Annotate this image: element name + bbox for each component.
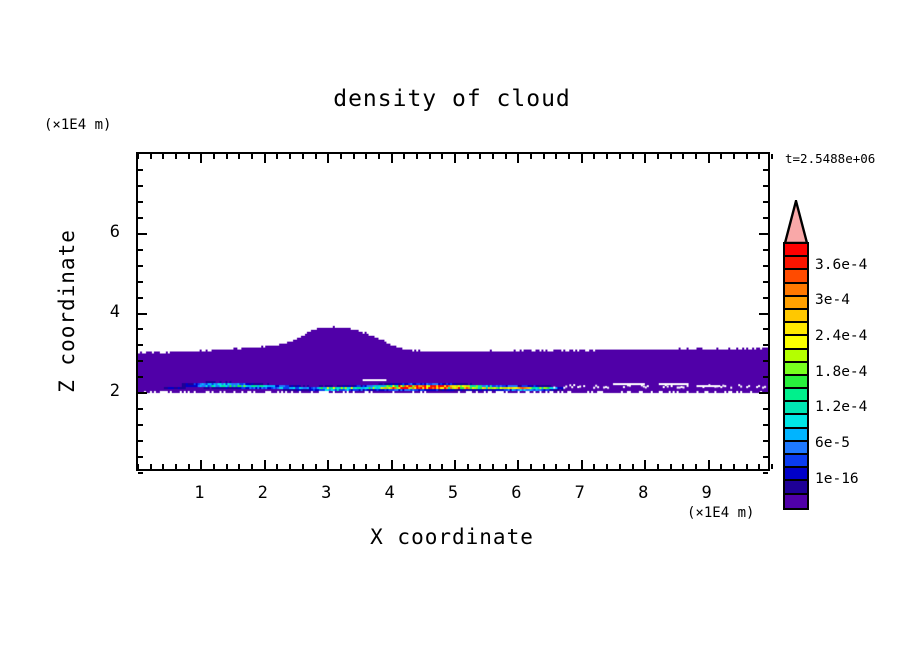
x-axis-tick-label: 2	[248, 483, 278, 503]
x-axis-tick-label: 7	[565, 483, 595, 503]
colorbar-band	[785, 429, 807, 442]
x-axis-tick	[517, 154, 519, 163]
x-axis-tick	[353, 464, 355, 469]
x-axis-tick-label: 6	[501, 483, 531, 503]
x-axis-tick	[593, 464, 595, 469]
y-axis-tick	[138, 313, 147, 315]
x-axis-tick	[695, 154, 697, 159]
x-axis-tick	[327, 460, 329, 469]
x-axis-tick-label: 5	[438, 483, 468, 503]
x-axis-tick	[238, 464, 240, 469]
x-axis-tick	[137, 154, 139, 159]
colorbar-band	[785, 481, 807, 494]
x-axis-tick	[619, 464, 621, 469]
x-axis-tick	[644, 460, 646, 469]
colorbar-tick-label: 1.2e-4	[815, 399, 867, 415]
y-axis-unit-label: (×1E4 m)	[44, 117, 111, 133]
x-axis-tick	[505, 464, 507, 469]
x-axis-tick	[555, 464, 557, 469]
x-axis-tick	[695, 464, 697, 469]
x-axis-tick	[530, 464, 532, 469]
x-axis-tick	[657, 464, 659, 469]
x-axis-tick	[251, 154, 253, 159]
x-axis-tick	[467, 464, 469, 469]
x-axis-tick	[340, 464, 342, 469]
x-axis-tick	[758, 464, 760, 469]
x-axis-tick	[543, 154, 545, 159]
x-axis-tick-label: 8	[628, 483, 658, 503]
x-axis-tick-label: 1	[184, 483, 214, 503]
time-annotation: t=2.5488e+06	[785, 151, 875, 166]
x-axis-tick	[771, 464, 773, 469]
x-axis-tick	[568, 464, 570, 469]
y-axis-tick	[763, 281, 768, 283]
x-axis-tick	[188, 464, 190, 469]
x-axis-tick	[391, 154, 393, 163]
y-axis-tick	[763, 440, 768, 442]
x-axis-tick	[403, 464, 405, 469]
x-axis-tick	[581, 154, 583, 163]
colorbar-band	[785, 468, 807, 481]
colorbar-band	[785, 323, 807, 336]
x-axis-tick	[251, 464, 253, 469]
y-axis-title: Z coordinate	[55, 211, 79, 411]
y-axis-tick	[138, 456, 143, 458]
x-axis-tick	[606, 154, 608, 159]
y-axis-tick	[759, 392, 768, 394]
x-axis-tick	[429, 154, 431, 159]
x-axis-tick	[302, 464, 304, 469]
y-axis-tick	[138, 201, 143, 203]
colorbar-band	[785, 297, 807, 310]
colorbar-band	[785, 389, 807, 402]
colorbar-tick-label: 1e-16	[815, 471, 859, 487]
y-axis-tick-label: 4	[90, 302, 120, 322]
y-axis-tick	[138, 169, 143, 171]
x-axis-tick	[289, 464, 291, 469]
x-axis-tick	[403, 154, 405, 159]
colorbar-band	[785, 284, 807, 297]
y-axis-tick	[138, 408, 143, 410]
x-axis-tick	[416, 464, 418, 469]
x-axis-tick	[555, 154, 557, 159]
x-axis-tick	[150, 154, 152, 159]
x-axis-tick	[150, 464, 152, 469]
x-axis-tick	[733, 464, 735, 469]
y-axis-tick	[763, 472, 768, 474]
y-axis-tick	[138, 185, 143, 187]
x-axis-tick	[378, 464, 380, 469]
y-axis-tick	[763, 456, 768, 458]
x-axis-tick	[454, 154, 456, 163]
y-axis-tick	[763, 185, 768, 187]
colorbar-band	[785, 376, 807, 389]
y-axis-tick	[138, 440, 143, 442]
y-axis-tick	[763, 360, 768, 362]
x-axis-tick	[188, 154, 190, 159]
y-axis-tick	[763, 344, 768, 346]
y-axis-tick	[138, 328, 143, 330]
y-axis-tick	[763, 169, 768, 171]
y-axis-tick	[138, 233, 147, 235]
density-field-canvas	[138, 154, 768, 469]
y-axis-tick	[138, 376, 143, 378]
x-axis-tick	[327, 154, 329, 163]
x-axis-tick	[619, 154, 621, 159]
y-axis-tick	[763, 217, 768, 219]
x-axis-tick	[264, 460, 266, 469]
y-axis-tick	[138, 249, 143, 251]
x-axis-tick	[175, 154, 177, 159]
x-axis-tick	[670, 464, 672, 469]
y-axis-tick	[138, 217, 143, 219]
x-axis-tick	[492, 464, 494, 469]
y-axis-tick	[138, 392, 147, 394]
x-axis-tick	[276, 464, 278, 469]
colorbar-band	[785, 415, 807, 428]
colorbar-tick-label: 3e-4	[815, 292, 850, 308]
colorbar-bands	[783, 242, 809, 510]
y-axis-tick	[138, 297, 143, 299]
y-axis-tick	[763, 328, 768, 330]
y-axis-tick	[138, 360, 143, 362]
y-axis-tick	[138, 265, 143, 267]
x-axis-tick	[632, 464, 634, 469]
x-axis-tick	[226, 154, 228, 159]
y-axis-tick	[138, 424, 143, 426]
x-axis-tick	[340, 154, 342, 159]
colorbar-band	[785, 336, 807, 349]
x-axis-tick	[467, 154, 469, 159]
x-axis-tick-label: 3	[311, 483, 341, 503]
x-axis-tick	[365, 154, 367, 159]
plot-area	[136, 152, 770, 471]
colorbar-band	[785, 350, 807, 363]
colorbar-band	[785, 244, 807, 257]
x-axis-tick	[746, 464, 748, 469]
colorbar-band	[785, 363, 807, 376]
x-axis-tick	[276, 154, 278, 159]
x-axis-tick	[758, 154, 760, 159]
x-axis-tick	[137, 464, 139, 469]
x-axis-tick	[454, 460, 456, 469]
x-axis-tick	[315, 154, 317, 159]
x-axis-tick	[441, 154, 443, 159]
x-axis-tick	[644, 154, 646, 163]
x-axis-tick	[391, 460, 393, 469]
x-axis-tick	[708, 460, 710, 469]
x-axis-tick-label: 4	[375, 483, 405, 503]
colorbar-overflow-arrow-icon	[783, 200, 809, 244]
x-axis-unit-label: (×1E4 m)	[687, 505, 754, 521]
y-axis-tick-label: 6	[90, 222, 120, 242]
colorbar-band	[785, 442, 807, 455]
x-axis-tick-label: 9	[692, 483, 722, 503]
y-axis-tick	[763, 408, 768, 410]
colorbar-band	[785, 455, 807, 468]
x-axis-tick	[479, 464, 481, 469]
y-axis-tick	[763, 265, 768, 267]
page-title: density of cloud	[0, 86, 904, 112]
x-axis-tick	[302, 154, 304, 159]
colorbar-tick-label: 1.8e-4	[815, 364, 867, 380]
x-axis-tick	[162, 154, 164, 159]
y-axis-tick	[759, 233, 768, 235]
x-axis-tick	[315, 464, 317, 469]
y-axis-tick	[138, 281, 143, 283]
colorbar-band	[785, 402, 807, 415]
x-axis-tick	[543, 464, 545, 469]
colorbar-band	[785, 495, 807, 508]
y-axis-tick	[138, 344, 143, 346]
x-axis-tick	[733, 154, 735, 159]
y-axis-tick	[763, 424, 768, 426]
colorbar-band	[785, 257, 807, 270]
x-axis-tick	[200, 154, 202, 163]
x-axis-tick	[746, 154, 748, 159]
x-axis-tick	[657, 154, 659, 159]
x-axis-tick	[593, 154, 595, 159]
x-axis-tick	[429, 464, 431, 469]
x-axis-tick	[226, 464, 228, 469]
x-axis-tick	[530, 154, 532, 159]
x-axis-tick	[670, 154, 672, 159]
y-axis-tick	[763, 249, 768, 251]
x-axis-tick	[213, 464, 215, 469]
y-axis-tick	[763, 201, 768, 203]
y-axis-tick	[763, 297, 768, 299]
x-axis-tick	[682, 464, 684, 469]
colorbar-band	[785, 310, 807, 323]
x-axis-tick	[200, 460, 202, 469]
x-axis-tick	[238, 154, 240, 159]
colorbar-tick-label: 2.4e-4	[815, 328, 867, 344]
x-axis-tick	[682, 154, 684, 159]
y-axis-tick	[763, 376, 768, 378]
x-axis-tick	[568, 154, 570, 159]
y-axis-tick	[759, 313, 768, 315]
colorbar-band	[785, 270, 807, 283]
x-axis-tick	[720, 154, 722, 159]
x-axis-tick	[720, 464, 722, 469]
x-axis-tick	[479, 154, 481, 159]
x-axis-tick	[289, 154, 291, 159]
colorbar-tick-label: 3.6e-4	[815, 257, 867, 273]
x-axis-tick	[162, 464, 164, 469]
x-axis-tick	[365, 464, 367, 469]
colorbar-tick-label: 6e-5	[815, 435, 850, 451]
x-axis-tick	[492, 154, 494, 159]
y-axis-tick-label: 2	[90, 381, 120, 401]
x-axis-tick	[416, 154, 418, 159]
x-axis-tick	[378, 154, 380, 159]
x-axis-tick	[264, 154, 266, 163]
x-axis-tick	[175, 464, 177, 469]
x-axis-tick	[708, 154, 710, 163]
x-axis-tick	[441, 464, 443, 469]
x-axis-tick	[581, 460, 583, 469]
x-axis-tick	[606, 464, 608, 469]
figure-canvas: density of cloud (×1E4 m) (×1E4 m) t=2.5…	[0, 0, 904, 654]
y-axis-tick	[138, 472, 143, 474]
x-axis-title: X coordinate	[0, 525, 904, 549]
x-axis-tick	[517, 460, 519, 469]
x-axis-tick	[771, 154, 773, 159]
x-axis-tick	[213, 154, 215, 159]
x-axis-tick	[505, 154, 507, 159]
x-axis-tick	[353, 154, 355, 159]
x-axis-tick	[632, 154, 634, 159]
